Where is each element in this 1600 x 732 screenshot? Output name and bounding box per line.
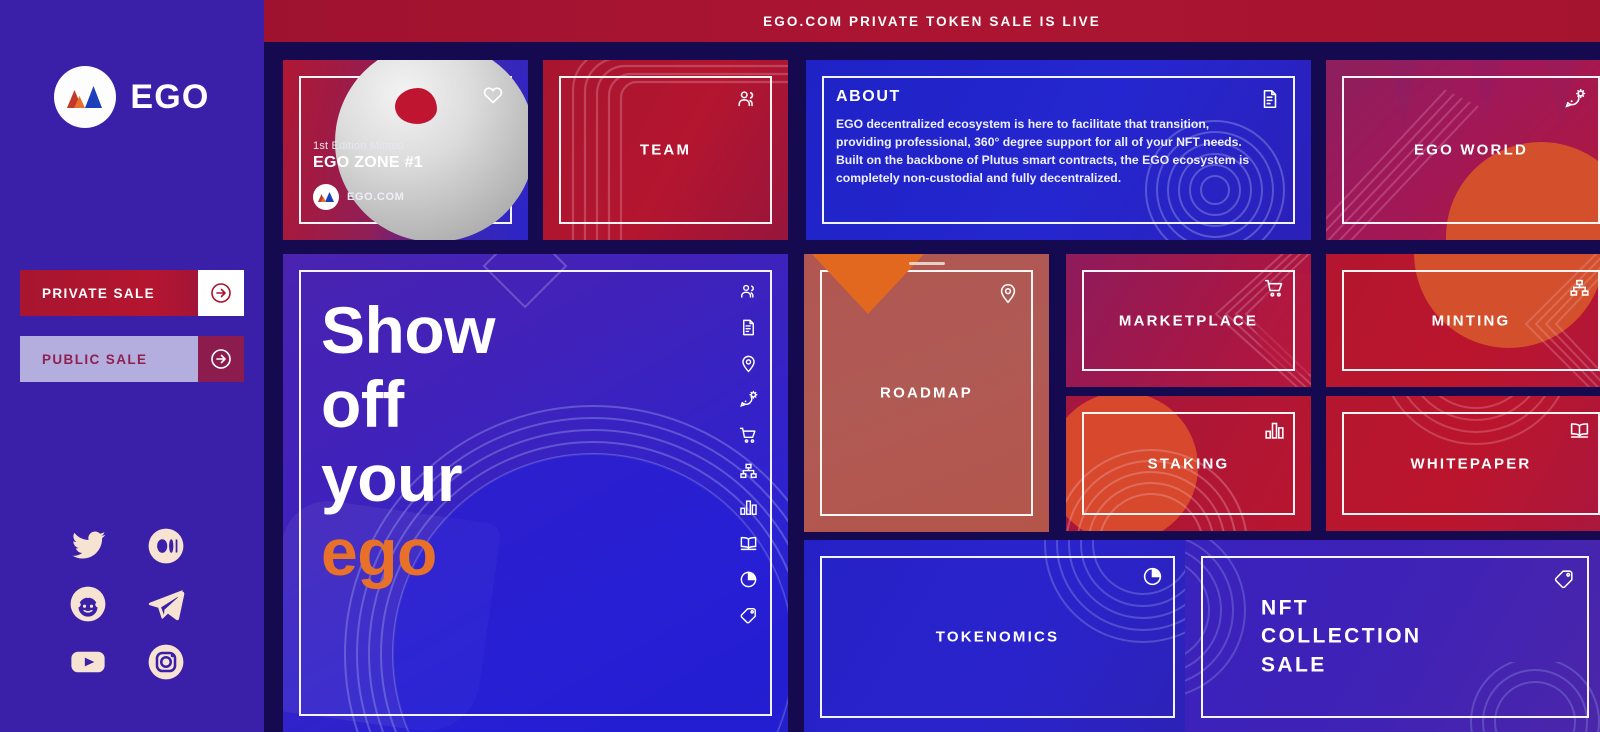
pie-chart-icon[interactable] [739,570,758,589]
open-book-icon [1569,420,1590,441]
card-grid: 1st Edition Minted EGO ZONE #1 EGO.COM [264,42,1600,732]
page-root: EGO PRIVATE SALE PUBLIC SALE [0,0,1600,732]
reddit-icon[interactable] [60,576,116,632]
minting-card-title: MINTING [1326,312,1600,329]
sidebar: EGO PRIVATE SALE PUBLIC SALE [0,0,264,732]
social-links [60,518,220,690]
diamond-decoration [483,254,568,308]
marketplace-card-title: MARKETPLACE [1066,312,1311,329]
hero-card[interactable]: Show off your ego [283,254,788,732]
minting-card[interactable]: MINTING [1326,254,1600,387]
telegram-icon[interactable] [138,576,194,632]
staking-card[interactable]: STAKING [1066,396,1311,531]
world-rocket-icon[interactable] [739,390,758,409]
ego-world-card[interactable]: EGO WORLD [1326,60,1600,240]
marketplace-card[interactable]: MARKETPLACE [1066,254,1311,387]
staking-card-title: STAKING [1066,455,1311,472]
sitemap-icon [1569,278,1590,299]
sun-shape [1414,254,1600,348]
arrow-right-circle-icon [198,336,244,382]
sale-button-group: PRIVATE SALE PUBLIC SALE [20,270,244,402]
public-sale-label: PUBLIC SALE [20,352,147,367]
ego-mountain-logo-icon [54,66,116,128]
heart-icon[interactable] [482,84,504,106]
roadmap-card-title: ROADMAP [804,385,1049,402]
nft-sale-title-block: NFT COLLECTION SALE [1261,594,1422,679]
location-pin-icon [997,282,1019,304]
about-heading: ABOUT [836,88,1255,106]
hero-icon-rail [739,282,758,625]
brand-logo[interactable]: EGO [0,66,264,128]
nft-title: EGO ZONE #1 [313,154,423,172]
triangle-decoration [812,254,924,314]
price-tag-icon[interactable] [739,606,758,625]
nft-collection-sale-card[interactable]: NFT COLLECTION SALE [1185,540,1600,732]
sitemap-icon[interactable] [739,462,758,481]
team-card[interactable]: TEAM [543,60,788,240]
people-icon[interactable] [739,282,758,301]
private-sale-button[interactable]: PRIVATE SALE [20,270,244,316]
youtube-icon[interactable] [60,634,116,690]
price-tag-icon [1553,568,1575,590]
hero-line-3: your [321,442,495,516]
tokenomics-card[interactable]: TOKENOMICS [804,540,1191,732]
hero-line-2: off [321,368,495,442]
twitter-icon[interactable] [60,518,116,574]
about-paragraph: EGO decentralized ecosystem is here to f… [836,115,1255,187]
whitepaper-card[interactable]: WHITEPAPER [1326,396,1600,531]
nft-site-label: EGO.COM [347,191,404,203]
nft-sale-line-3: SALE [1261,651,1422,679]
hero-line-1: Show [321,294,495,368]
ego-world-card-title: EGO WORLD [1326,142,1600,159]
nft-creator-badge: EGO.COM [313,184,423,210]
document-icon[interactable] [739,318,758,337]
nft-feature-card[interactable]: 1st Edition Minted EGO ZONE #1 EGO.COM [283,60,528,240]
avatar [313,184,339,210]
promo-banner-text: EGO.COM PRIVATE TOKEN SALE IS LIVE [763,14,1101,29]
about-body: ABOUT EGO decentralized ecosystem is her… [836,88,1255,187]
nft-blob-artwork [395,88,437,124]
nft-meta: 1st Edition Minted EGO ZONE #1 EGO.COM [313,140,423,210]
promo-banner[interactable]: EGO.COM PRIVATE TOKEN SALE IS LIVE [264,0,1600,42]
world-rocket-icon [1564,88,1586,110]
bar-chart-icon[interactable] [739,498,758,517]
shopping-cart-icon[interactable] [739,426,758,445]
location-pin-icon[interactable] [739,354,758,373]
team-card-title: TEAM [543,142,788,159]
instagram-icon[interactable] [138,634,194,690]
private-sale-label: PRIVATE SALE [20,286,155,301]
shopping-cart-icon [1264,278,1285,299]
people-icon [736,88,758,110]
dash-decoration [909,262,945,265]
whitepaper-card-title: WHITEPAPER [1326,455,1600,472]
medium-icon[interactable] [138,518,194,574]
open-book-icon[interactable] [739,534,758,553]
public-sale-button[interactable]: PUBLIC SALE [20,336,244,382]
nft-sale-line-1: NFT [1261,594,1422,622]
brand-name: EGO [130,78,209,117]
about-card[interactable]: ABOUT EGO decentralized ecosystem is her… [806,60,1311,240]
pie-chart-icon [1142,566,1163,587]
nft-edition-label: 1st Edition Minted [313,140,423,152]
hero-line-4: ego [321,516,495,590]
nft-sale-line-2: COLLECTION [1261,623,1422,651]
roadmap-card[interactable]: ROADMAP [804,254,1049,532]
document-icon [1259,88,1281,110]
hero-headline: Show off your ego [321,294,495,590]
tokenomics-card-title: TOKENOMICS [804,629,1191,646]
bar-chart-icon [1264,420,1285,441]
arrow-right-circle-icon [198,270,244,316]
